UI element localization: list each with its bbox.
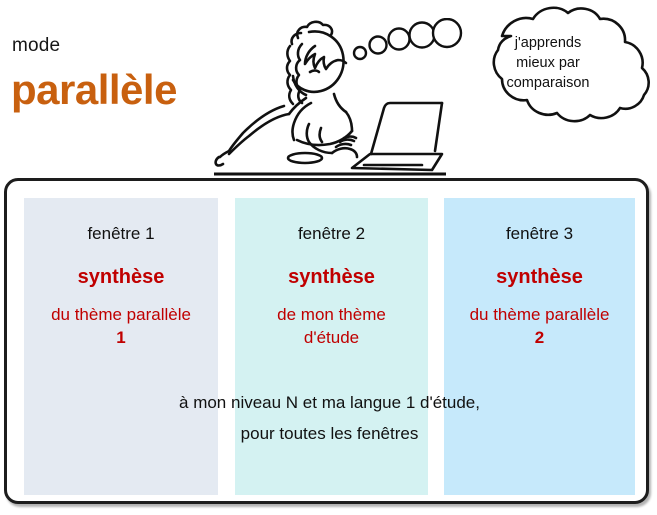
theme-line-3-b: 2 <box>535 328 544 347</box>
bubble-text-line-1: j'apprends <box>472 33 624 53</box>
window-column-1-content: fenêtre 1 synthèse du thème parallèle 1 <box>24 198 218 349</box>
synthese-label-2: synthèse <box>235 266 428 289</box>
theme-line-2-a: de mon thème <box>277 305 386 324</box>
header: mode parallèle <box>0 0 657 178</box>
theme-text-2: de mon thème d'étude <box>235 303 428 349</box>
window-column-3-content: fenêtre 3 synthèse du thème parallèle 2 <box>444 198 635 349</box>
window-label-2: fenêtre 2 <box>235 224 428 244</box>
theme-text-3: du thème parallèle 2 <box>444 303 635 349</box>
bubble-text-line-2: mieux par <box>472 53 624 73</box>
theme-line-1-b: 1 <box>116 328 125 347</box>
window-label-3: fenêtre 3 <box>444 224 635 244</box>
mode-label: mode <box>12 35 60 57</box>
bubble-text-line-3: comparaison <box>472 73 624 93</box>
mode-title: parallèle <box>11 69 177 111</box>
theme-line-1-a: du thème parallèle <box>51 305 191 324</box>
theme-line-2-b: d'étude <box>304 328 359 347</box>
synthese-label-1: synthèse <box>24 266 218 289</box>
window-label-1: fenêtre 1 <box>24 224 218 244</box>
window-column-2-content: fenêtre 2 synthèse de mon thème d'étude <box>235 198 428 349</box>
theme-text-1: du thème parallèle 1 <box>24 303 218 349</box>
theme-line-3-a: du thème parallèle <box>470 305 610 324</box>
synthese-label-3: synthèse <box>444 266 635 289</box>
window-column-2[interactable]: fenêtre 2 synthèse de mon thème d'étude <box>235 198 428 495</box>
window-column-1[interactable]: fenêtre 1 synthèse du thème parallèle 1 <box>24 198 218 495</box>
window-column-3[interactable]: fenêtre 3 synthèse du thème parallèle 2 <box>444 198 635 495</box>
windows-panel: fenêtre 1 synthèse du thème parallèle 1 … <box>4 178 649 504</box>
thought-bubble-text: j'apprends mieux par comparaison <box>472 33 624 93</box>
